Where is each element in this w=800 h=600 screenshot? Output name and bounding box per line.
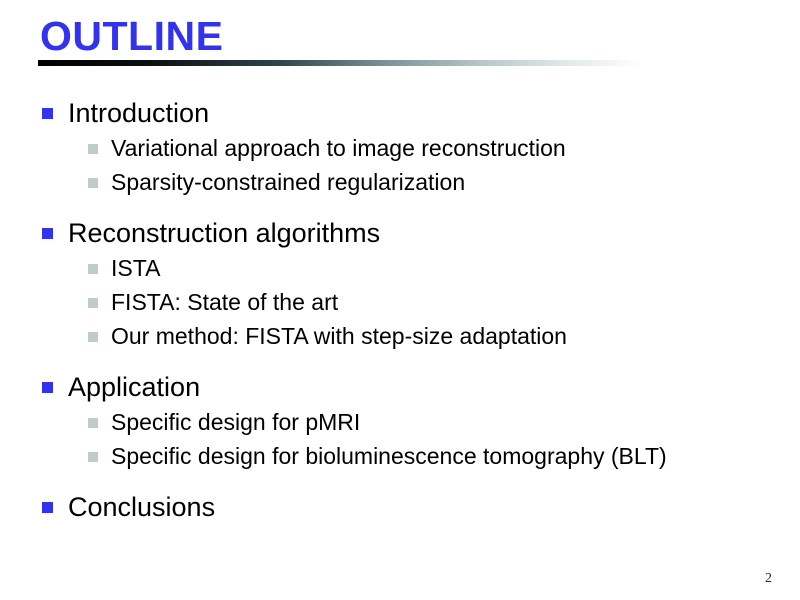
outline-group: Reconstruction algorithms ISTA FISTA: St… <box>0 216 800 355</box>
square-bullet-icon <box>88 178 98 188</box>
outline-item-level2[interactable]: Variational approach to image reconstruc… <box>0 133 800 167</box>
group-spacer <box>0 475 800 490</box>
outline-subitem-label: Sparsity-constrained regularization <box>111 167 465 198</box>
outline-item-level2[interactable]: Our method: FISTA with step-size adaptat… <box>0 321 800 355</box>
outline-subitem-label: Specific design for pMRI <box>111 407 360 438</box>
outline-item-label: Reconstruction algorithms <box>68 216 380 250</box>
outline-item-level2[interactable]: FISTA: State of the art <box>0 287 800 321</box>
square-bullet-icon <box>88 418 98 428</box>
page-number: 2 <box>765 571 772 587</box>
outline-list: Introduction Variational approach to ima… <box>0 96 800 527</box>
outline-item-level1[interactable]: Conclusions <box>0 490 800 527</box>
outline-group: Introduction Variational approach to ima… <box>0 96 800 201</box>
outline-group: Conclusions <box>0 490 800 527</box>
outline-item-level2[interactable]: Specific design for bioluminescence tomo… <box>0 441 800 475</box>
slide-title-block: OUTLINE <box>0 0 800 78</box>
outline-item-level2[interactable]: Sparsity-constrained regularization <box>0 167 800 201</box>
outline-subitem-label: Specific design for bioluminescence tomo… <box>111 441 667 472</box>
square-bullet-icon <box>42 382 53 393</box>
outline-subitem-label: FISTA: State of the art <box>111 287 338 318</box>
outline-subitem-label: Our method: FISTA with step-size adaptat… <box>111 321 567 352</box>
square-bullet-icon <box>88 264 98 274</box>
outline-item-label: Conclusions <box>68 490 215 524</box>
square-bullet-icon <box>88 298 98 308</box>
outline-group: Application Specific design for pMRI Spe… <box>0 370 800 475</box>
outline-item-level1[interactable]: Reconstruction algorithms <box>0 216 800 253</box>
outline-item-level1[interactable]: Application <box>0 370 800 407</box>
outline-item-level2[interactable]: Specific design for pMRI <box>0 407 800 441</box>
presentation-slide: OUTLINE Introduction Variational approac… <box>0 0 800 600</box>
square-bullet-icon <box>42 108 53 119</box>
page-title: OUTLINE <box>40 13 223 59</box>
square-bullet-icon <box>42 228 53 239</box>
square-bullet-icon <box>88 452 98 462</box>
outline-item-label: Introduction <box>68 96 209 130</box>
square-bullet-icon <box>88 332 98 342</box>
title-gradient-divider <box>38 60 642 66</box>
square-bullet-icon <box>42 502 53 513</box>
outline-item-level1[interactable]: Introduction <box>0 96 800 133</box>
square-bullet-icon <box>88 144 98 154</box>
outline-item-label: Application <box>68 370 200 404</box>
group-spacer <box>0 201 800 216</box>
group-spacer <box>0 355 800 370</box>
outline-item-level2[interactable]: ISTA <box>0 253 800 287</box>
outline-subitem-label: ISTA <box>111 253 160 284</box>
outline-subitem-label: Variational approach to image reconstruc… <box>111 133 566 164</box>
